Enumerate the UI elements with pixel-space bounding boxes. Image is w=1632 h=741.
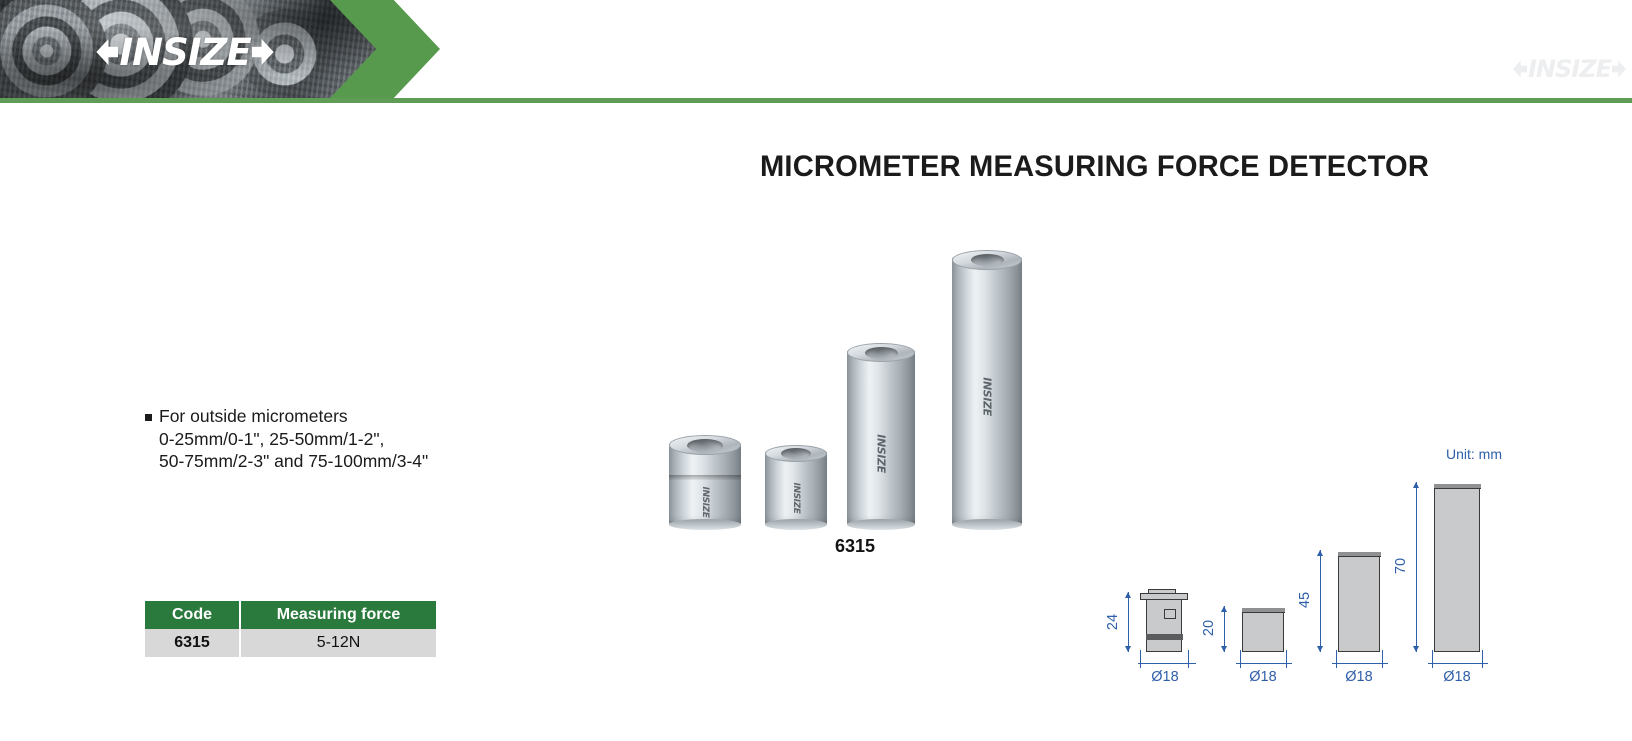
dim-part-1-band	[1146, 634, 1183, 640]
dim-part-2-cap	[1242, 608, 1285, 613]
product-cylinder-3: INSIZE	[847, 343, 915, 525]
dim-1-height-ext-line	[1128, 592, 1129, 652]
feature-item: For outside micrometers 0-25mm/0-1", 25-…	[145, 405, 565, 473]
insize-watermark: INSIZE	[1513, 57, 1626, 81]
dim-part-1-flange	[1140, 593, 1188, 600]
insize-logo[interactable]: INSIZE	[96, 30, 274, 74]
cylinder-2-logo: INSIZE	[791, 483, 801, 514]
dim-3-width-tick-left	[1336, 650, 1337, 668]
page-title: MICROMETER MEASURING FORCE DETECTOR	[760, 150, 1497, 184]
dim-3-height-arrow-up	[1317, 550, 1323, 556]
table-row[interactable]: 6315 5-12N	[145, 629, 436, 657]
feature-line-2: 0-25mm/0-1", 25-50mm/1-2",	[159, 428, 428, 451]
product-cylinder-4: INSIZE	[952, 250, 1022, 525]
dim-part-4-body	[1434, 484, 1480, 652]
spec-table: Code Measuring force 6315 5-12N	[145, 601, 436, 657]
dim-2-height-arrow-up	[1221, 606, 1227, 612]
logo-right-arrow-icon	[252, 39, 274, 65]
dim-3-width-line	[1332, 663, 1388, 664]
dim-2-diameter-label: Ø18	[1238, 669, 1288, 685]
cylinder-1-logo: INSIZE	[700, 487, 710, 518]
feature-line-1: For outside micrometers	[159, 405, 428, 428]
dim-part-1-notch	[1164, 609, 1176, 619]
cylinder-3-bottom-face	[847, 519, 915, 530]
cylinder-2-bottom-face	[765, 519, 827, 530]
product-cylinder-1: INSIZE	[669, 435, 741, 525]
dim-2-width-tick-left	[1240, 650, 1241, 668]
dim-1-width-tick-left	[1140, 650, 1141, 668]
dim-part-1-body	[1146, 594, 1182, 652]
dim-3-diameter-label: Ø18	[1334, 669, 1384, 685]
feature-line-3: 50-75mm/2-3" and 75-100mm/3-4"	[159, 450, 428, 473]
dimension-drawings: Unit: mm 24 Ø18 20 Ø18	[1090, 440, 1510, 670]
cylinder-1-groove	[669, 475, 741, 480]
dim-4-height-arrow-down	[1413, 646, 1419, 652]
dim-item-4: 70 Ø18	[1396, 477, 1492, 652]
feature-text: For outside micrometers 0-25mm/0-1", 25-…	[159, 405, 428, 473]
dim-4-height-ext-line	[1416, 482, 1417, 652]
dim-part-1-cap	[1148, 589, 1176, 594]
product-code-label: 6315	[655, 536, 1055, 557]
watermark-left-arrow-icon	[1513, 61, 1527, 78]
logo-left-arrow-icon	[96, 39, 118, 65]
dim-part-3-cap	[1338, 552, 1381, 557]
feature-list: For outside micrometers 0-25mm/0-1", 25-…	[145, 405, 565, 473]
cylinder-1-bottom-face	[669, 519, 741, 530]
dim-3-height-arrow-down	[1317, 646, 1323, 652]
dim-part-3-body	[1338, 552, 1380, 652]
unit-label: Unit: mm	[1446, 446, 1502, 462]
dim-3-height-ext-line	[1320, 550, 1321, 652]
dim-4-width-line	[1428, 663, 1488, 664]
square-bullet-icon	[145, 414, 152, 421]
dim-2-height-label: 20	[1201, 620, 1217, 636]
cylinder-4-bore	[971, 254, 1004, 266]
cylinder-3-logo: INSIZE	[875, 434, 888, 472]
dim-part-4-cap	[1434, 484, 1481, 489]
dim-1-diameter-label: Ø18	[1140, 669, 1190, 685]
watermark-wordmark: INSIZE	[1528, 57, 1611, 81]
page-header: INSIZE INSIZE	[0, 0, 1632, 104]
watermark-right-arrow-icon	[1612, 61, 1626, 78]
cylinder-4-logo: INSIZE	[981, 377, 994, 415]
product-cylinder-2: INSIZE	[765, 445, 827, 525]
dim-4-width-tick-left	[1432, 650, 1433, 668]
dim-item-2: 20 Ø18	[1204, 582, 1294, 652]
dim-4-height-label: 70	[1393, 558, 1409, 574]
logo-wordmark: INSIZE	[119, 34, 250, 71]
spec-col-code: Code	[145, 601, 240, 629]
dim-item-3: 45 Ø18	[1300, 542, 1390, 652]
spec-table-header-row: Code Measuring force	[145, 601, 436, 629]
cell-code: 6315	[145, 629, 240, 657]
header-green-rule	[0, 98, 1632, 103]
dim-2-width-tick-right	[1286, 650, 1287, 668]
cylinder-3-bore	[865, 347, 898, 359]
cell-measuring-force: 5-12N	[240, 629, 436, 657]
cylinder-1-bore	[687, 439, 723, 452]
dim-4-height-arrow-up	[1413, 482, 1419, 488]
dim-3-height-label: 45	[1297, 592, 1313, 608]
dim-1-height-label: 24	[1105, 614, 1121, 630]
dim-4-diameter-label: Ø18	[1432, 669, 1482, 685]
dim-2-height-arrow-down	[1221, 646, 1227, 652]
cylinder-4-bottom-face	[952, 519, 1022, 530]
dim-part-2-body	[1242, 608, 1284, 652]
dim-item-1: 24 Ø18	[1108, 582, 1198, 652]
dim-1-height-arrow-down	[1125, 646, 1131, 652]
dim-1-height-arrow-up	[1125, 592, 1131, 598]
dim-4-width-tick-right	[1482, 650, 1483, 668]
product-photo: INSIZE INSIZE INSIZE INSIZE	[655, 245, 1055, 525]
spec-col-measuring-force: Measuring force	[240, 601, 436, 629]
cylinder-2-bore	[781, 448, 811, 459]
dim-3-width-tick-right	[1382, 650, 1383, 668]
dim-1-width-tick-right	[1188, 650, 1189, 668]
dim-2-width-line	[1236, 663, 1292, 664]
